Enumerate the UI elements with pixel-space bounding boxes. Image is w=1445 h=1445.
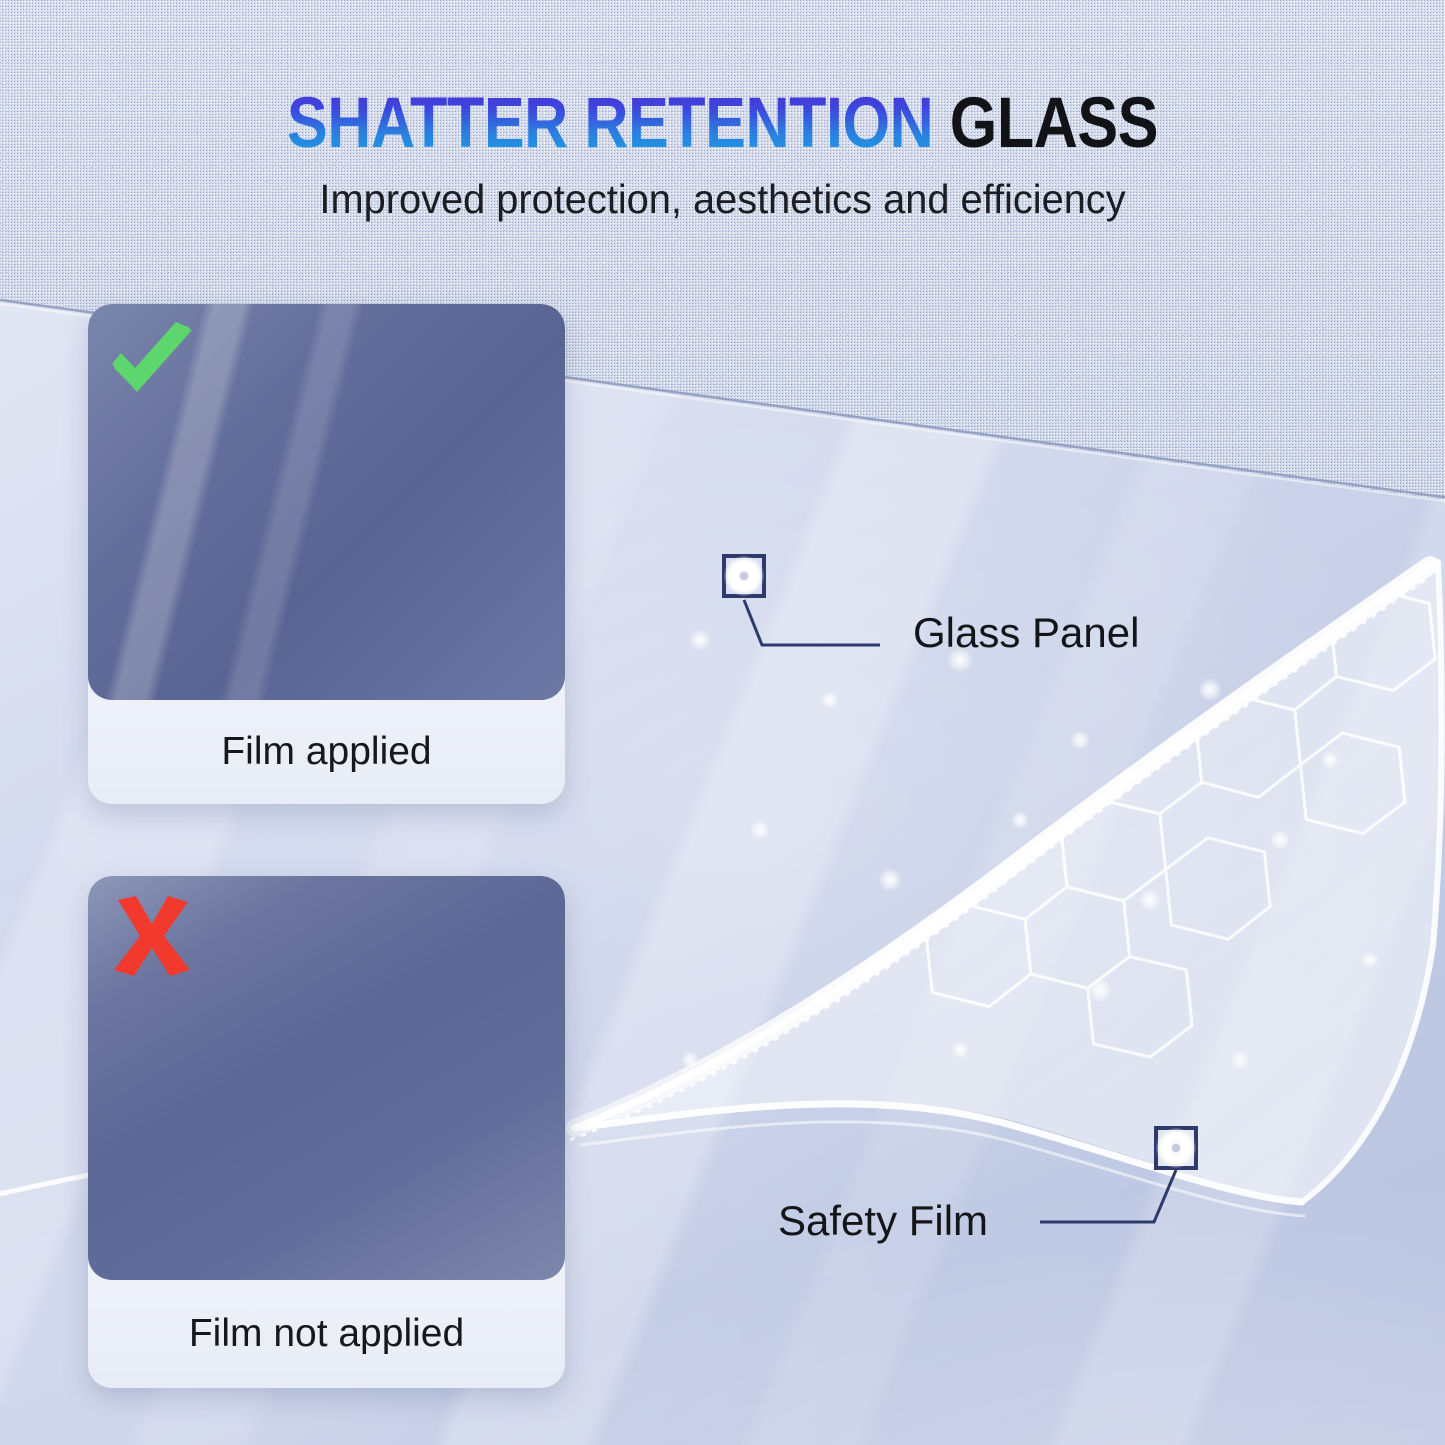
glass-panel-marker [724,556,764,596]
infographic-canvas: SHATTER RETENTION GLASS Improved protect… [0,0,1445,1445]
glass-panel-leader [744,600,880,645]
safety-film-marker [1156,1128,1196,1168]
safety-film-leader [1040,1170,1176,1222]
callout-leader-lines [0,0,1445,1445]
